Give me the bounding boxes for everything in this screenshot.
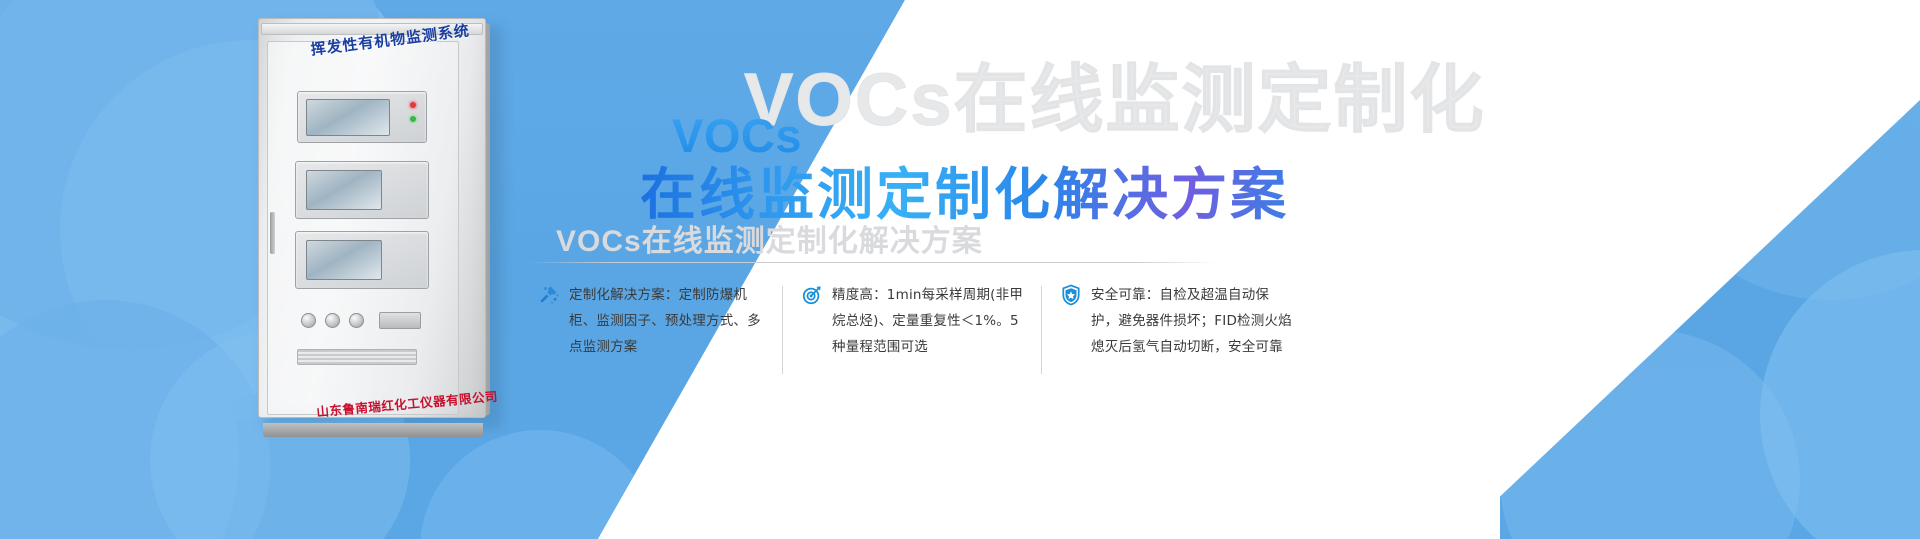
- ghost-headline-small: VOCs在线监测定制化解决方案: [556, 216, 983, 260]
- cabinet-handle: [270, 212, 275, 254]
- feature-text: 安全可靠：自检及超温自动保护，避免器件损坏；FID检测火焰熄灭后氢气自动切断，安…: [1091, 282, 1292, 392]
- instrument-module-2: [295, 161, 429, 219]
- cabinet-vent: [297, 349, 417, 365]
- control-knob: [349, 313, 364, 328]
- feature-text: 精度高：1min每采样周期(非甲烷总烃)、定量重复性＜1%。5种量程范围可选: [832, 282, 1023, 392]
- instrument-module-3: [295, 231, 429, 289]
- control-knob: [301, 313, 316, 328]
- feature-item-precision: 精度高：1min每采样周期(非甲烷总烃)、定量重复性＜1%。5种量程范围可选: [783, 282, 1041, 392]
- feature-item-customization: 定制化解决方案：定制防爆机柜、监测因子、预处理方式、多点监测方案: [520, 282, 782, 392]
- vocs-promo-banner: 挥发性有机物监测系统 山东鲁南瑞红化工仪器有限公司 VOCs在线监测定制化 VO…: [0, 0, 1920, 539]
- status-led: [410, 116, 416, 122]
- control-knob: [325, 313, 340, 328]
- cabinet-base: [263, 423, 483, 437]
- feature-item-safety: 安全可靠：自检及超温自动保护，避免器件损坏；FID检测火焰熄灭后氢气自动切断，安…: [1042, 282, 1310, 392]
- target-arrow-icon: [801, 284, 823, 306]
- shield-star-icon: [1060, 284, 1082, 306]
- instrument-display-3: [306, 240, 382, 280]
- control-plate: [379, 312, 421, 329]
- ghost-headline-large: VOCs在线监测定制化: [744, 40, 1486, 147]
- feature-text: 定制化解决方案：定制防爆机柜、监测因子、预处理方式、多点监测方案: [569, 282, 764, 392]
- feature-list: 定制化解决方案：定制防爆机柜、监测因子、预处理方式、多点监测方案 精度高：1mi…: [520, 282, 1400, 392]
- status-led: [410, 102, 416, 108]
- control-knob-row: [299, 311, 427, 333]
- section-divider: [528, 262, 1218, 263]
- instrument-display-1: [306, 99, 390, 136]
- product-photo: 挥发性有机物监测系统 山东鲁南瑞红化工仪器有限公司: [258, 8, 508, 428]
- instrument-module-1: [297, 91, 427, 143]
- tools-icon: [538, 284, 560, 306]
- instrument-display-2: [306, 170, 382, 210]
- cabinet-body: [258, 18, 486, 418]
